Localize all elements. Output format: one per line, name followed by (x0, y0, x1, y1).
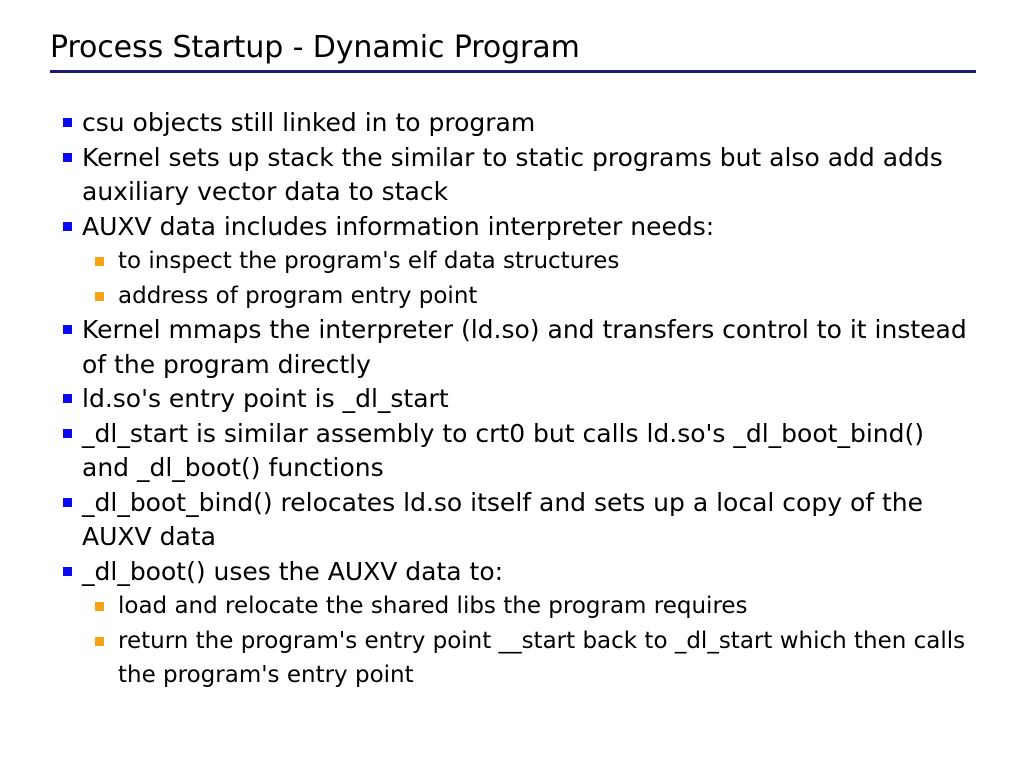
bullet-item: csu objects still linked in to program (50, 106, 976, 141)
sub-bullet-square-icon (95, 637, 104, 646)
bullet-text: csu objects still linked in to program (82, 106, 976, 141)
bullet-item: _dl_start is similar assembly to crt0 bu… (50, 417, 976, 486)
sub-bullet-square-icon (95, 257, 104, 266)
bullet-square-icon (63, 394, 72, 403)
bullet-square-icon (63, 429, 72, 438)
bullet-item: _dl_boot() uses the AUXV data to: (50, 555, 976, 590)
bullet-list: csu objects still linked in to programKe… (50, 106, 976, 693)
sub-bullet-item: load and relocate the shared libs the pr… (84, 589, 976, 624)
bullet-item: ld.so's entry point is _dl_start (50, 382, 976, 417)
bullet-text: to inspect the program's elf data struct… (118, 244, 976, 279)
sub-bullet-square-icon (95, 602, 104, 611)
slide: Process Startup - Dynamic Program csu ob… (0, 0, 1024, 768)
sub-bullet-item: address of program entry point (84, 279, 976, 314)
bullet-square-icon (63, 222, 72, 231)
bullet-text: ld.so's entry point is _dl_start (82, 382, 976, 417)
bullet-square-icon (63, 118, 72, 127)
sub-bullet-square-icon (95, 292, 104, 301)
bullet-text: _dl_boot_bind() relocates ld.so itself a… (82, 486, 976, 555)
bullet-square-icon (63, 498, 72, 507)
bullet-item: Kernel sets up stack the similar to stat… (50, 141, 976, 210)
bullet-text: _dl_start is similar assembly to crt0 bu… (82, 417, 976, 486)
title-underline-rule (50, 70, 976, 73)
slide-title-block: Process Startup - Dynamic Program (50, 30, 976, 73)
bullet-text: AUXV data includes information interpret… (82, 210, 976, 245)
bullet-text: Kernel sets up stack the similar to stat… (82, 141, 976, 210)
sub-bullet-item: to inspect the program's elf data struct… (84, 244, 976, 279)
bullet-text: _dl_boot() uses the AUXV data to: (82, 555, 976, 590)
bullet-item: AUXV data includes information interpret… (50, 210, 976, 245)
bullet-item: _dl_boot_bind() relocates ld.so itself a… (50, 486, 976, 555)
bullet-text: return the program's entry point __start… (118, 624, 976, 693)
sub-bullet-item: return the program's entry point __start… (84, 624, 976, 693)
bullet-square-icon (63, 567, 72, 576)
bullet-square-icon (63, 153, 72, 162)
bullet-item: Kernel mmaps the interpreter (ld.so) and… (50, 313, 976, 382)
page-title: Process Startup - Dynamic Program (50, 30, 976, 66)
bullet-text: load and relocate the shared libs the pr… (118, 589, 976, 624)
bullet-square-icon (63, 325, 72, 334)
slide-body: csu objects still linked in to programKe… (50, 106, 976, 693)
bullet-text: address of program entry point (118, 279, 976, 314)
bullet-text: Kernel mmaps the interpreter (ld.so) and… (82, 313, 976, 382)
